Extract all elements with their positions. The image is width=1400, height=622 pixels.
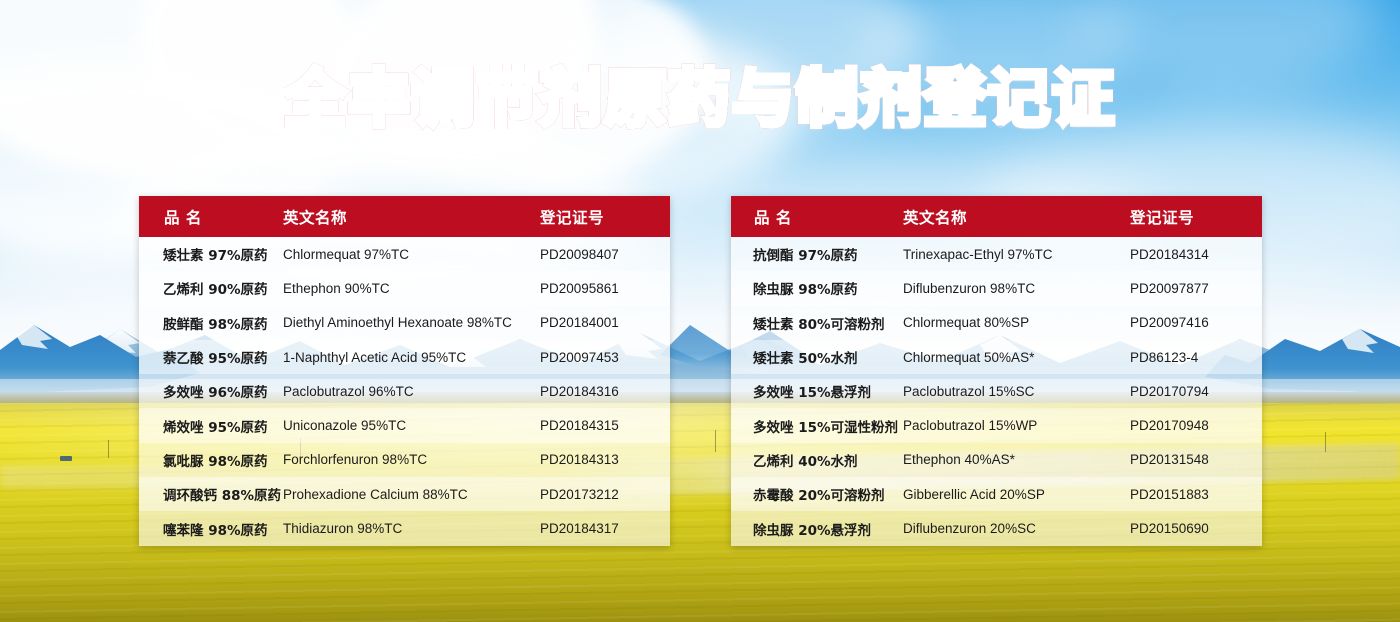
cell-english-name: Diflubenzuron 98%TC <box>903 281 1130 296</box>
cell-product-name: 多效唑 96%原药 <box>139 381 283 401</box>
cell-english-name: Thidiazuron 98%TC <box>283 521 540 536</box>
page-title-text: 全丰调节剂原药与制剂登记证 <box>284 62 1116 135</box>
cell-english-name: Chlormequat 97%TC <box>283 247 540 262</box>
table-row: 多效唑 15%可湿性粉剂 Paclobutrazol 15%WP PD20170… <box>731 408 1262 442</box>
cell-registration-number: PD20097877 <box>1130 281 1262 296</box>
cell-english-name: Paclobutrazol 15%WP <box>903 418 1130 433</box>
cell-english-name: Diflubenzuron 20%SC <box>903 521 1130 536</box>
distant-vehicle <box>60 456 72 461</box>
cell-product-name: 乙烯利 40%水剂 <box>731 450 903 470</box>
cell-product-name: 萘乙酸 95%原药 <box>139 347 283 367</box>
cell-english-name: Ethephon 90%TC <box>283 281 540 296</box>
cell-registration-number: PD20131548 <box>1130 452 1262 467</box>
cell-english-name: Diethyl Aminoethyl Hexanoate 98%TC <box>283 315 540 330</box>
cell-registration-number: PD20095861 <box>540 281 670 296</box>
cell-english-name: Paclobutrazol 96%TC <box>283 384 540 399</box>
cell-english-name: Trinexapac-Ethyl 97%TC <box>903 247 1130 262</box>
column-header-registration-number: 登记证号 <box>1130 206 1262 228</box>
cell-product-name: 氯吡脲 98%原药 <box>139 450 283 470</box>
cell-product-name: 除虫脲 20%悬浮剂 <box>731 519 903 539</box>
cell-product-name: 矮壮素 80%可溶粉剂 <box>731 313 903 333</box>
cell-registration-number: PD20184314 <box>1130 247 1262 262</box>
cell-product-name: 多效唑 15%悬浮剂 <box>731 381 903 401</box>
cell-registration-number: PD20170948 <box>1130 418 1262 433</box>
table-row: 赤霉酸 20%可溶粉剂 Gibberellic Acid 20%SP PD201… <box>731 477 1262 511</box>
cell-registration-number: PD20184313 <box>540 452 670 467</box>
registration-table-technical: 品 名 英文名称 登记证号 矮壮素 97%原药 Chlormequat 97%T… <box>139 196 670 546</box>
table-row: 矮壮素 50%水剂 Chlormequat 50%AS* PD86123-4 <box>731 340 1262 374</box>
cell-registration-number: PD20184316 <box>540 384 670 399</box>
table-row: 矮壮素 80%可溶粉剂 Chlormequat 80%SP PD20097416 <box>731 306 1262 340</box>
cell-english-name: Paclobutrazol 15%SC <box>903 384 1130 399</box>
cell-registration-number: PD20184001 <box>540 315 670 330</box>
cell-product-name: 抗倒酯 97%原药 <box>731 244 903 264</box>
cell-product-name: 赤霉酸 20%可溶粉剂 <box>731 484 903 504</box>
cell-english-name: Prohexadione Calcium 88%TC <box>283 487 540 502</box>
cell-product-name: 噻苯隆 98%原药 <box>139 519 283 539</box>
utility-pole <box>108 440 109 458</box>
cell-english-name: Forchlorfenuron 98%TC <box>283 452 540 467</box>
cell-english-name: Chlormequat 50%AS* <box>903 350 1130 365</box>
utility-pole <box>1325 432 1326 452</box>
cell-registration-number: PD20151883 <box>1130 487 1262 502</box>
cell-english-name: Ethephon 40%AS* <box>903 452 1130 467</box>
cell-product-name: 矮壮素 97%原药 <box>139 244 283 264</box>
table-row: 乙烯利 90%原药 Ethephon 90%TC PD20095861 <box>139 271 670 305</box>
cell-product-name: 矮壮素 50%水剂 <box>731 347 903 367</box>
table-row: 多效唑 15%悬浮剂 Paclobutrazol 15%SC PD2017079… <box>731 374 1262 408</box>
cell-registration-number: PD20184315 <box>540 418 670 433</box>
cell-product-name: 调环酸钙 88%原药 <box>139 484 283 504</box>
table-row: 胺鲜酯 98%原药 Diethyl Aminoethyl Hexanoate 9… <box>139 306 670 340</box>
cell-product-name: 乙烯利 90%原药 <box>139 278 283 298</box>
registration-table-formulations: 品 名 英文名称 登记证号 抗倒酯 97%原药 Trinexapac-Ethyl… <box>731 196 1262 546</box>
table-body: 抗倒酯 97%原药 Trinexapac-Ethyl 97%TC PD20184… <box>731 237 1262 546</box>
column-header-product-name: 品 名 <box>731 206 903 228</box>
column-header-english-name: 英文名称 <box>283 206 540 228</box>
cell-english-name: 1-Naphthyl Acetic Acid 95%TC <box>283 350 540 365</box>
table-row: 噻苯隆 98%原药 Thidiazuron 98%TC PD20184317 <box>139 511 670 545</box>
table-row: 乙烯利 40%水剂 Ethephon 40%AS* PD20131548 <box>731 443 1262 477</box>
cell-registration-number: PD20098407 <box>540 247 670 262</box>
table-row: 萘乙酸 95%原药 1-Naphthyl Acetic Acid 95%TC P… <box>139 340 670 374</box>
table-header-row: 品 名 英文名称 登记证号 <box>139 196 670 237</box>
page-title: 全丰调节剂原药与制剂登记证 <box>0 68 1400 130</box>
table-row: 调环酸钙 88%原药 Prohexadione Calcium 88%TC PD… <box>139 477 670 511</box>
table-row: 除虫脲 98%原药 Diflubenzuron 98%TC PD20097877 <box>731 271 1262 305</box>
cell-registration-number: PD86123-4 <box>1130 350 1262 365</box>
column-header-english-name: 英文名称 <box>903 206 1130 228</box>
cell-english-name: Chlormequat 80%SP <box>903 315 1130 330</box>
cell-registration-number: PD20173212 <box>540 487 670 502</box>
cell-registration-number: PD20184317 <box>540 521 670 536</box>
cell-product-name: 除虫脲 98%原药 <box>731 278 903 298</box>
cell-product-name: 胺鲜酯 98%原药 <box>139 313 283 333</box>
table-row: 矮壮素 97%原药 Chlormequat 97%TC PD20098407 <box>139 237 670 271</box>
table-row: 抗倒酯 97%原药 Trinexapac-Ethyl 97%TC PD20184… <box>731 237 1262 271</box>
table-row: 除虫脲 20%悬浮剂 Diflubenzuron 20%SC PD2015069… <box>731 511 1262 545</box>
table-row: 氯吡脲 98%原药 Forchlorfenuron 98%TC PD201843… <box>139 443 670 477</box>
table-body: 矮壮素 97%原药 Chlormequat 97%TC PD20098407 乙… <box>139 237 670 546</box>
cell-english-name: Uniconazole 95%TC <box>283 418 540 433</box>
cell-registration-number: PD20097416 <box>1130 315 1262 330</box>
cell-product-name: 多效唑 15%可湿性粉剂 <box>731 416 903 436</box>
table-header-row: 品 名 英文名称 登记证号 <box>731 196 1262 237</box>
cell-product-name: 烯效唑 95%原药 <box>139 416 283 436</box>
column-header-product-name: 品 名 <box>139 206 283 228</box>
cell-registration-number: PD20150690 <box>1130 521 1262 536</box>
table-row: 烯效唑 95%原药 Uniconazole 95%TC PD20184315 <box>139 408 670 442</box>
column-header-registration-number: 登记证号 <box>540 206 670 228</box>
cell-registration-number: PD20097453 <box>540 350 670 365</box>
table-row: 多效唑 96%原药 Paclobutrazol 96%TC PD20184316 <box>139 374 670 408</box>
cell-registration-number: PD20170794 <box>1130 384 1262 399</box>
utility-pole <box>715 430 716 452</box>
cell-english-name: Gibberellic Acid 20%SP <box>903 487 1130 502</box>
